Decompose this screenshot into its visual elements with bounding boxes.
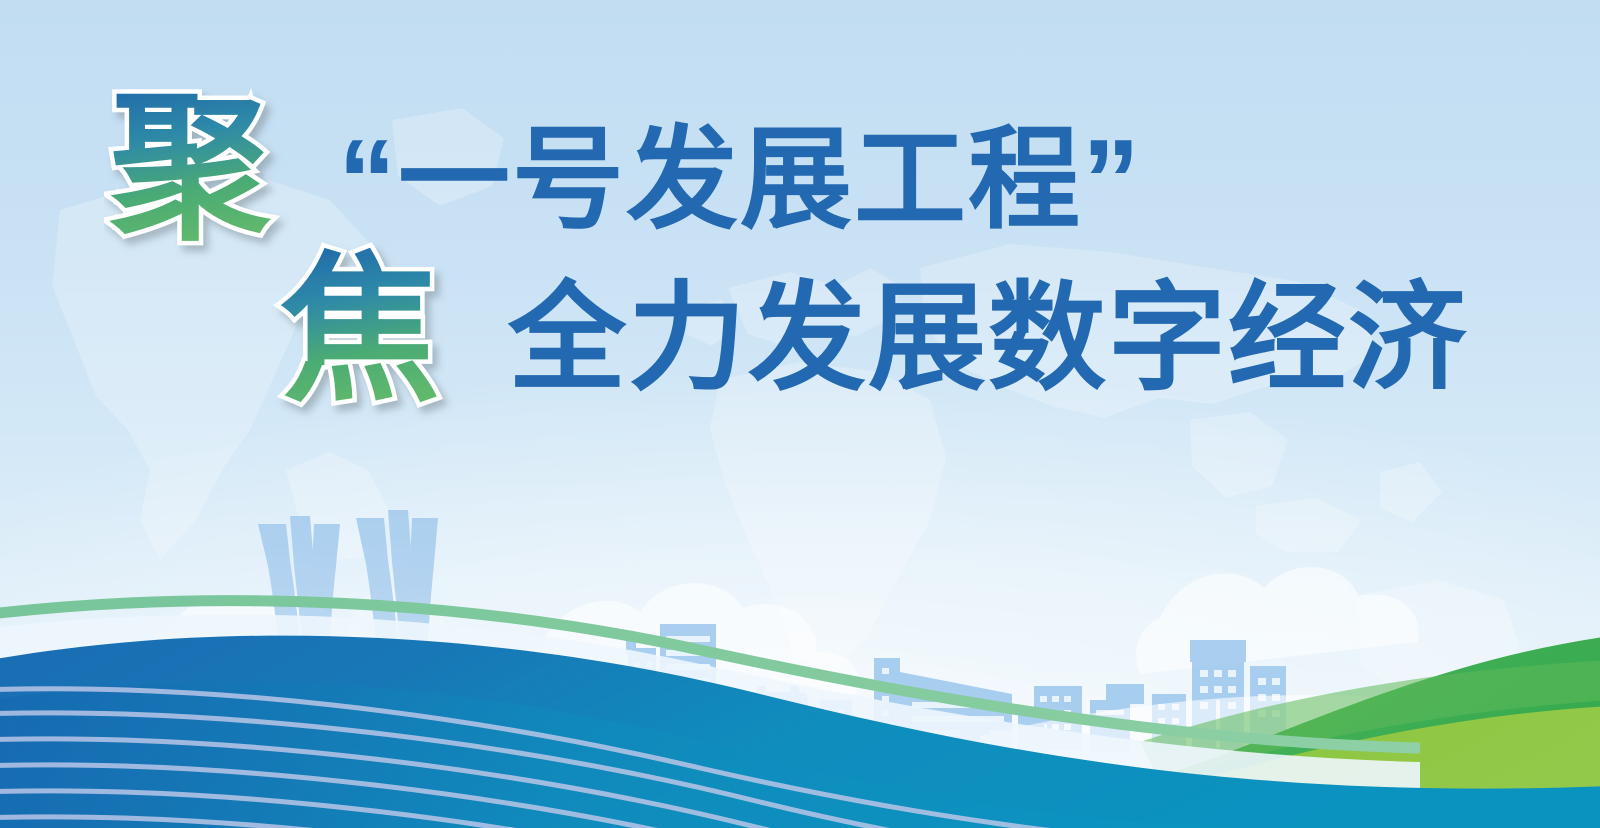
quote-close: ” [1082,115,1142,245]
headline-line-1-text: 一号发展工程 [398,117,1082,242]
headline-line-1: “一号发展工程” [338,122,1142,238]
char-ju: 聚 [109,86,271,262]
headline-block: “一号发展工程” 全力发展数字经济 [330,122,1510,442]
quote-open: “ [338,115,398,245]
poster-canvas: 聚 焦 “一号发展工程” 全力发展数字经济 [0,0,1600,828]
headline-line-2: 全力发展数字经济 [508,280,1468,398]
